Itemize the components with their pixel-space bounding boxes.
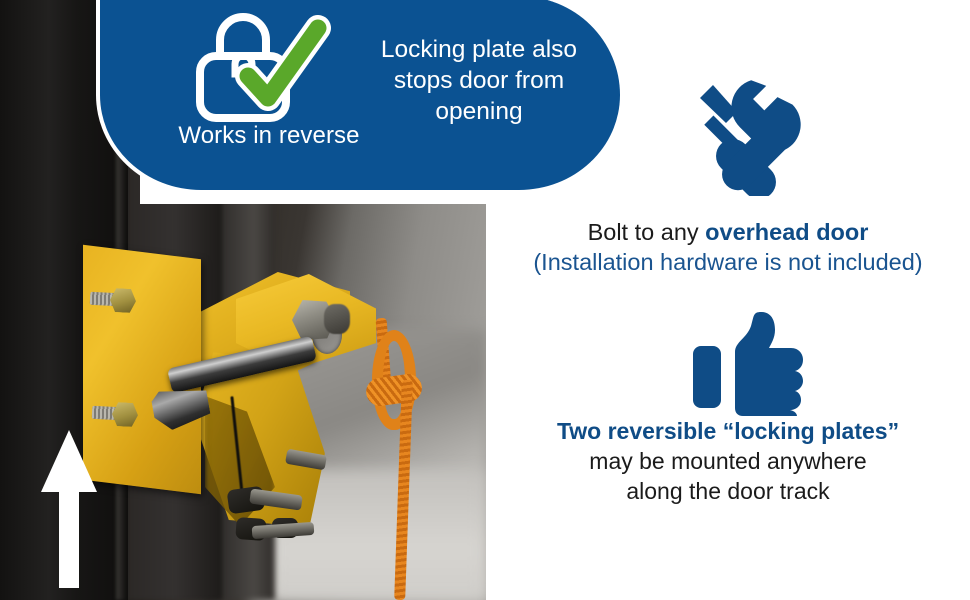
up-arrow-icon xyxy=(41,430,97,588)
badge-headline: Locking plate also stops door from openi… xyxy=(362,34,596,127)
reversible-plates-text-block: Two reversible “locking plates” may be m… xyxy=(486,416,970,506)
badge-headline-line-2: stops door from xyxy=(362,65,596,96)
reversible-plates-headline: Two reversible “locking plates” xyxy=(486,416,970,446)
bolt-to-any-plain: Bolt to any xyxy=(588,219,706,245)
badge-caption: Works in reverse xyxy=(146,122,392,150)
reversible-plates-line-2: may be mounted anywhere xyxy=(486,446,970,476)
thumbs-up-icon xyxy=(691,312,807,418)
mounting-bolt-upper xyxy=(89,287,136,313)
padlock-check-icon xyxy=(192,12,342,124)
pin-nut-secondary xyxy=(324,304,350,334)
bolt-to-any-line: Bolt to any overhead door xyxy=(486,218,970,247)
bolt-nut xyxy=(109,288,136,313)
installation-hardware-note: (Installation hardware is not included) xyxy=(486,247,970,277)
overhead-door-text-block: Bolt to any overhead door (Installation … xyxy=(486,218,970,277)
bolt-nut xyxy=(111,402,138,427)
badge-headline-line-3: opening xyxy=(362,96,596,127)
reversible-plates-line-3: along the door track xyxy=(486,476,970,506)
badge-headline-line-1: Locking plate also xyxy=(362,34,596,65)
wrench-screwdriver-icon xyxy=(685,78,809,196)
feature-badge: Works in reverse Locking plate also stop… xyxy=(96,0,624,194)
mounting-bolt-lower xyxy=(91,401,138,427)
overhead-door-emphasis: overhead door xyxy=(705,219,868,245)
infographic-canvas: Works in reverse Locking plate also stop… xyxy=(0,0,970,600)
